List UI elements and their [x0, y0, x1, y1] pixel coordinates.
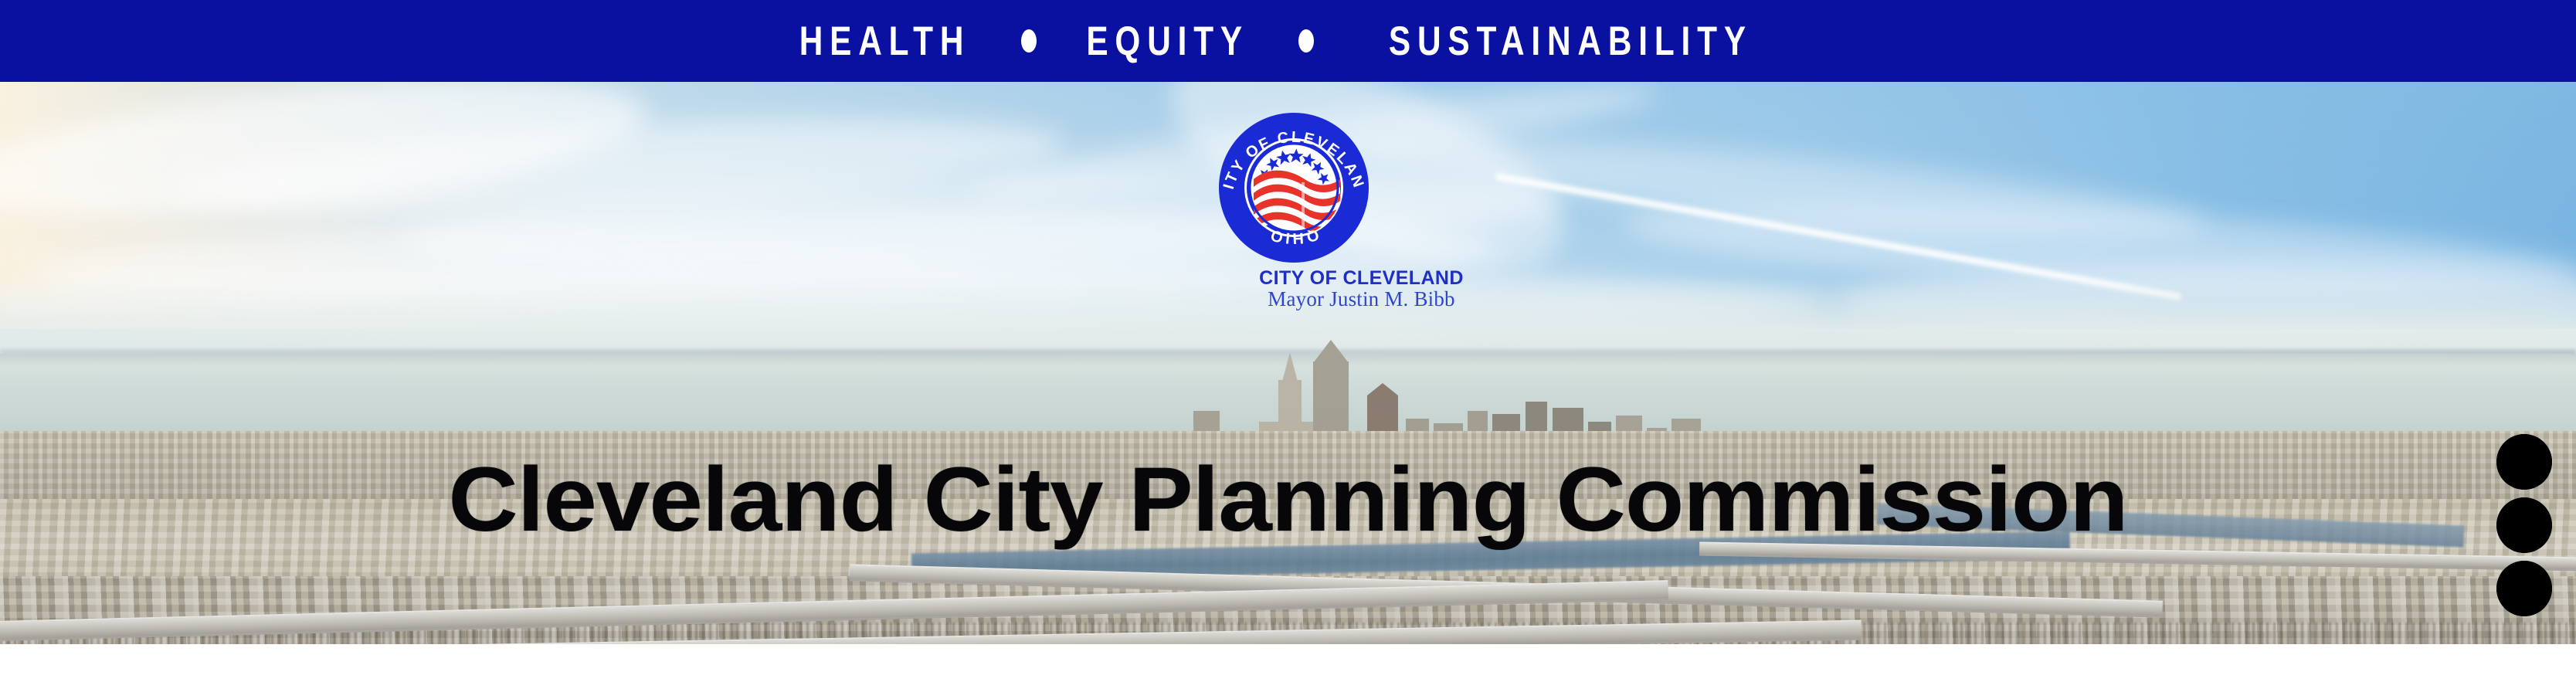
slogan-banner: HEALTH EQUITY SUSTAINABILITY [0, 0, 2576, 82]
slogan-word-sustainability: SUSTAINABILITY [1389, 21, 1753, 62]
footer-white-strip [0, 644, 2576, 682]
social-link-instagram[interactable] [2496, 497, 2552, 553]
org-name: CITY OF CLEVELAND [73, 267, 2576, 290]
city-of-cleveland-seal-icon: CITY OF CLEVELAND OHIO [1217, 108, 1371, 267]
social-links [2496, 434, 2552, 624]
slogan-word-health: HEALTH [799, 21, 971, 62]
social-link-facebook[interactable] [2496, 561, 2552, 616]
page-title: Cleveland City Planning Commission [0, 454, 2576, 545]
city-seal: CITY OF CLEVELAND OHIO [1217, 108, 1371, 267]
hero-banner: CITY OF CLEVELAND OHIO CITY OF CLEVELAND… [0, 82, 2576, 644]
mayor-line: Mayor Justin M. Bibb [73, 287, 2576, 311]
social-link-youtube[interactable] [2496, 434, 2552, 490]
youtube-icon [2496, 434, 2552, 490]
facebook-icon [2496, 561, 2552, 616]
instagram-icon [2496, 497, 2552, 553]
page-root: HEALTH EQUITY SUSTAINABILITY [0, 0, 2576, 682]
slogan-banner-inner: HEALTH EQUITY SUSTAINABILITY [778, 21, 1798, 62]
bullet-dot-icon-2 [1298, 29, 1314, 53]
slogan-word-equity: EQUITY [1086, 21, 1249, 62]
bullet-dot-icon-1 [1021, 29, 1037, 53]
